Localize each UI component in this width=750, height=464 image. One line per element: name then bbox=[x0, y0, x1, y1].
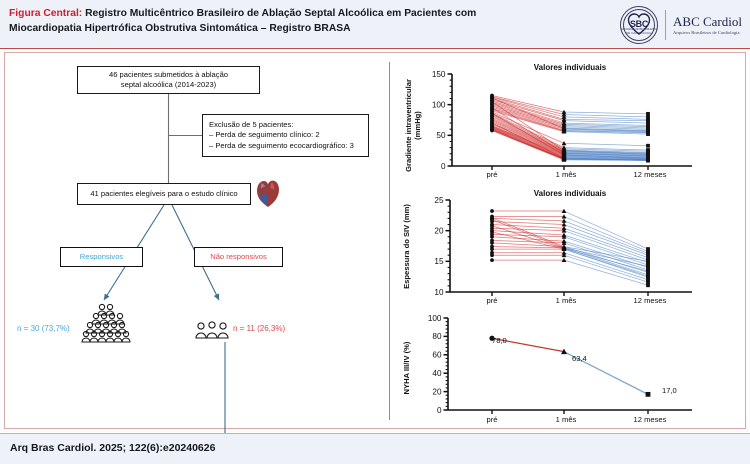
flow-box-responders: Responsivos bbox=[60, 247, 143, 267]
flow-box-exclusion: Exclusão de 5 pacientes: – Perda de segu… bbox=[202, 114, 369, 157]
figure-header: Figura Central: Registro Multicêntrico B… bbox=[0, 0, 750, 49]
chart1-xtick-0: pré bbox=[472, 170, 512, 179]
journal-subtitle: Arquivos Brasileiros de Cardiologia bbox=[673, 29, 742, 36]
svg-text:15: 15 bbox=[434, 257, 444, 266]
chart3-point-label-0: 78,0 bbox=[492, 336, 507, 345]
chart3-plot-area: 020406080100 bbox=[392, 308, 748, 430]
flowchart-panel: 46 pacientes submetidos à ablaçãoseptal … bbox=[4, 52, 390, 429]
svg-text:0: 0 bbox=[437, 406, 442, 415]
svg-text:50: 50 bbox=[436, 131, 446, 140]
flow-box-total-patients: 46 pacientes submetidos à ablaçãoseptal … bbox=[77, 66, 260, 94]
anatomical-heart-icon bbox=[255, 178, 281, 208]
chart-nyha-class: NYHA III/IV (%) 020406080100 78,0 63,4 1… bbox=[392, 308, 748, 430]
journal-logo: SBC SOCIEDADE BRASILEIRA DE CARDIOLOGIA … bbox=[620, 6, 742, 44]
chart1-xtick-2: 12 meses bbox=[620, 170, 680, 179]
chart2-xtick-1: 1 mês bbox=[542, 296, 590, 305]
chart2-plot-area: 10152025 bbox=[392, 186, 748, 311]
chart3-xtick-2: 12 meses bbox=[620, 415, 680, 424]
chart3-point-label-2: 17,0 bbox=[662, 386, 677, 395]
chart-espessura-siv: Valores individuais Espessura do SIV (mm… bbox=[392, 186, 748, 311]
exclusion-line3: – Perda de seguimento ecocardiográfico: … bbox=[209, 141, 354, 150]
chart2-xtick-0: pré bbox=[472, 296, 512, 305]
figure-footer: Arq Bras Cardiol. 2025; 122(6):e20240626 bbox=[0, 433, 750, 464]
header-title-line2: Miocardiopatia Hipertrófica Obstrutiva S… bbox=[9, 23, 351, 34]
sbc-seal-micro-text: SOCIEDADE BRASILEIRA DE CARDIOLOGIA bbox=[620, 27, 658, 35]
svg-text:60: 60 bbox=[432, 351, 442, 360]
svg-text:20: 20 bbox=[432, 387, 442, 396]
figure-page: Figura Central: Registro Multicêntrico B… bbox=[0, 0, 750, 464]
svg-text:80: 80 bbox=[432, 332, 442, 341]
svg-text:100: 100 bbox=[432, 100, 446, 109]
chart1-xtick-1: 1 mês bbox=[542, 170, 590, 179]
chart3-xtick-1: 1 mês bbox=[542, 415, 590, 424]
chart3-point-label-1: 63,4 bbox=[572, 354, 587, 363]
exclusion-line1: Exclusão de 5 pacientes: bbox=[209, 120, 293, 129]
header-title-line1: Registro Multicêntrico Brasileiro de Abl… bbox=[82, 8, 476, 19]
nonresponders-count-label: n = 11 (26,3%) bbox=[233, 324, 285, 333]
logo-divider bbox=[665, 10, 666, 40]
flowchart-connectors bbox=[4, 52, 390, 429]
responders-crowd-icon bbox=[79, 303, 137, 345]
flow-box-total-line1: 46 pacientes submetidos à ablação bbox=[109, 70, 228, 79]
sbc-seal-icon: SBC SOCIEDADE BRASILEIRA DE CARDIOLOGIA bbox=[620, 6, 658, 44]
svg-text:10: 10 bbox=[434, 288, 444, 297]
chart1-plot-area: 050100150 bbox=[392, 60, 748, 185]
flow-box-eligible-patients: 41 pacientes elegíveis para o estudo clí… bbox=[77, 183, 251, 205]
journal-name-block: ABC Cardiol Arquivos Brasileiros de Card… bbox=[673, 15, 742, 36]
chart3-xtick-0: pré bbox=[472, 415, 512, 424]
chart2-xtick-2: 12 meses bbox=[620, 296, 680, 305]
responders-count-label: n = 30 (73,7%) bbox=[17, 324, 70, 333]
figure-central-label: Figura Central: bbox=[9, 8, 82, 19]
flow-box-nonresponders: Não responsivos bbox=[194, 247, 283, 267]
nonresponders-group-icon bbox=[194, 320, 230, 342]
flow-box-total-line2: septal alcoólica (2014-2023) bbox=[121, 80, 216, 89]
svg-text:40: 40 bbox=[432, 369, 442, 378]
journal-name: ABC Cardiol bbox=[673, 15, 742, 29]
svg-text:150: 150 bbox=[432, 70, 446, 79]
exclusion-line2: – Perda de seguimento clínico: 2 bbox=[209, 130, 320, 139]
svg-text:0: 0 bbox=[441, 162, 446, 171]
citation-text: Arq Bras Cardiol. 2025; 122(6):e20240626 bbox=[10, 442, 215, 454]
svg-text:100: 100 bbox=[428, 314, 442, 323]
header-title-block: Figura Central: Registro Multicêntrico B… bbox=[9, 7, 609, 36]
svg-text:25: 25 bbox=[434, 196, 444, 205]
svg-text:20: 20 bbox=[434, 226, 444, 235]
chart-gradiente-intraventricular: Valores individuais Gradiente intraventr… bbox=[392, 60, 748, 185]
